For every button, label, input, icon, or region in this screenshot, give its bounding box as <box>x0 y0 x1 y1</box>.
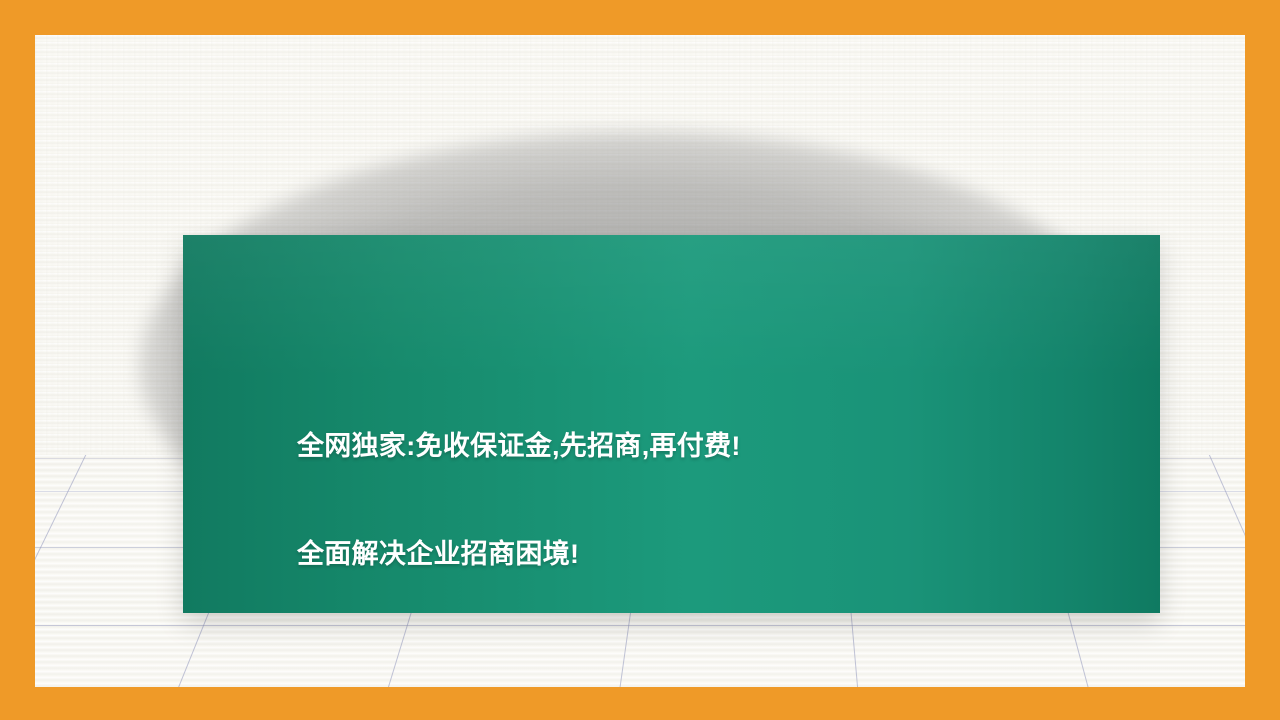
floor-diagonal-line <box>1200 455 1245 687</box>
paragraph-headline: 全网独家:免收保证金,先招商,再付费! 全面解决企业招商困境! <box>297 356 1150 644</box>
message-card-text: 全网独家:免收保证金,先招商,再付费! 全面解决企业招商困境! 合作即签订保障协… <box>297 248 1150 687</box>
floor-diagonal-line <box>35 455 96 687</box>
headline-line-2: 全面解决企业招商困境! <box>297 536 1150 572</box>
room-scene: 全网独家:免收保证金,先招商,再付费! 全面解决企业招商困境! 合作即签订保障协… <box>35 35 1245 687</box>
message-card: 全网独家:免收保证金,先招商,再付费! 全面解决企业招商困境! 合作即签订保障协… <box>183 235 1160 613</box>
headline-line-1: 全网独家:免收保证金,先招商,再付费! <box>297 428 1150 464</box>
promo-slide: 全网独家:免收保证金,先招商,再付费! 全面解决企业招商困境! 合作即签订保障协… <box>0 0 1280 720</box>
